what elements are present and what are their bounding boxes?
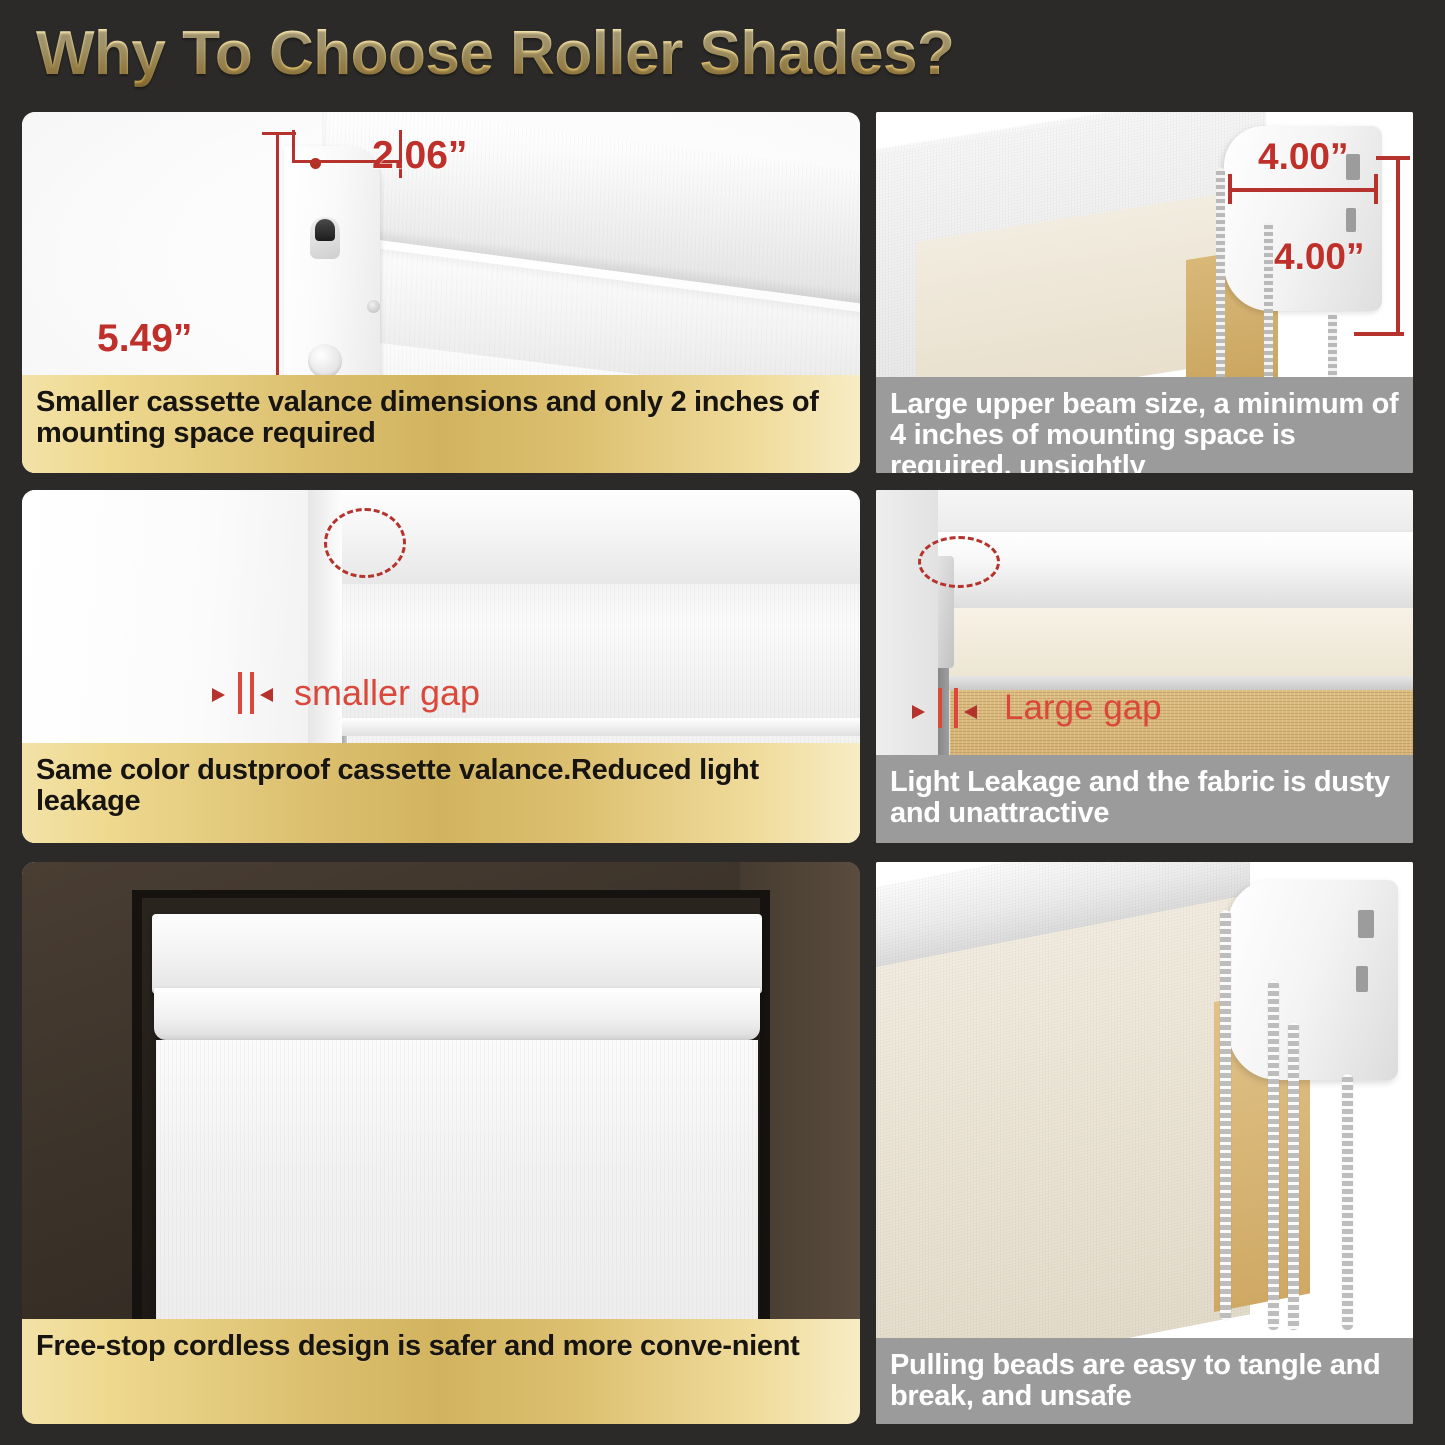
cassette-headrail	[152, 914, 762, 994]
bead-chain-mid-b	[1288, 1022, 1299, 1330]
height-tick-bottom	[1354, 332, 1404, 336]
bracket-notch-mid	[1356, 966, 1368, 992]
width-tick-right	[1374, 174, 1378, 204]
width-dimension-line	[1228, 188, 1378, 192]
gap-arrow-left-icon	[212, 688, 225, 702]
bead-chain-mid-a	[1268, 980, 1279, 1330]
gap-callout-label: Large gap	[1004, 688, 1162, 728]
cassette-headrail-lower	[154, 988, 760, 1040]
gap-arrow-right-icon	[964, 705, 977, 719]
height-tick-top	[1376, 156, 1410, 160]
panel-light-leakage: Large gap Light Leakage and the fabric i…	[876, 490, 1413, 843]
bracket-screw	[367, 300, 380, 313]
panel-3-caption-bar: Same color dustproof cassette valance.Re…	[22, 743, 860, 843]
ceiling-strip	[876, 490, 1413, 530]
panel-smaller-cassette: 2.06” 5.49” Smaller cassette valance dim…	[22, 112, 860, 473]
width-dimension-label: 4.00”	[1258, 136, 1349, 178]
panel-4-caption-bar: Light Leakage and the fabric is dusty an…	[876, 755, 1413, 843]
gap-arrow-left-icon	[912, 705, 925, 719]
shade-fabric	[876, 894, 1250, 1392]
gap-arrow-right-icon	[260, 688, 273, 702]
comparison-grid: 2.06” 5.49” Smaller cassette valance dim…	[0, 0, 1445, 1445]
panel-dustproof-valance: smaller gap Same color dustproof cassett…	[22, 490, 860, 843]
panel-large-upper-beam: 4.00” 4.00” Large upper beam size, a min…	[876, 112, 1413, 473]
height-dimension-line	[1396, 156, 1400, 336]
panel-3-caption-text: Same color dustproof cassette valance.Re…	[36, 755, 846, 817]
bracket-notch-top	[1358, 910, 1374, 938]
shade-fabric-cream	[946, 608, 1413, 680]
panel-6-caption-bar: Pulling beads are easy to tangle and bre…	[876, 1338, 1413, 1424]
bead-chain-left	[1220, 910, 1231, 1320]
panel-5-caption-text: Free-stop cordless design is safer and m…	[36, 1331, 800, 1362]
panel-4-caption-text: Light Leakage and the fabric is dusty an…	[890, 767, 1399, 829]
gap-callout-label: smaller gap	[294, 672, 480, 714]
panel-2-caption-bar: Large upper beam size, a minimum of 4 in…	[876, 377, 1413, 473]
height-dimension-label: 5.49”	[97, 317, 192, 361]
height-dimension-label: 4.00”	[1274, 236, 1365, 278]
panel-1-caption-text: Smaller cassette valance dimensions and …	[36, 387, 846, 449]
bracket-slot	[310, 217, 340, 259]
valance-lip	[340, 718, 860, 736]
panel-1-caption-bar: Smaller cassette valance dimensions and …	[22, 375, 860, 473]
bracket-notch-mid	[1346, 208, 1356, 232]
width-tick-left	[1228, 174, 1232, 204]
panel-cordless-design: Free-stop cordless design is safer and m…	[22, 862, 860, 1424]
gap-tick-left	[938, 688, 942, 728]
width-dimension-label: 2.06”	[372, 134, 467, 178]
panel-5-caption-bar: Free-stop cordless design is safer and m…	[22, 1319, 860, 1424]
height-tick-top	[262, 132, 296, 135]
panel-2-caption-text: Large upper beam size, a minimum of 4 in…	[890, 389, 1399, 473]
panel-pulling-beads: Pulling beads are easy to tangle and bre…	[876, 862, 1413, 1424]
highlight-circle-icon	[918, 536, 1000, 588]
panel-6-caption-text: Pulling beads are easy to tangle and bre…	[890, 1350, 1399, 1412]
gap-tick-right	[954, 688, 958, 728]
gap-tick-left	[238, 672, 242, 714]
roller-tube	[938, 532, 1413, 618]
gap-tick-right	[250, 672, 254, 714]
highlight-circle-icon	[324, 508, 406, 578]
bracket-knob	[308, 344, 342, 378]
bead-chain-right	[1342, 1074, 1353, 1330]
